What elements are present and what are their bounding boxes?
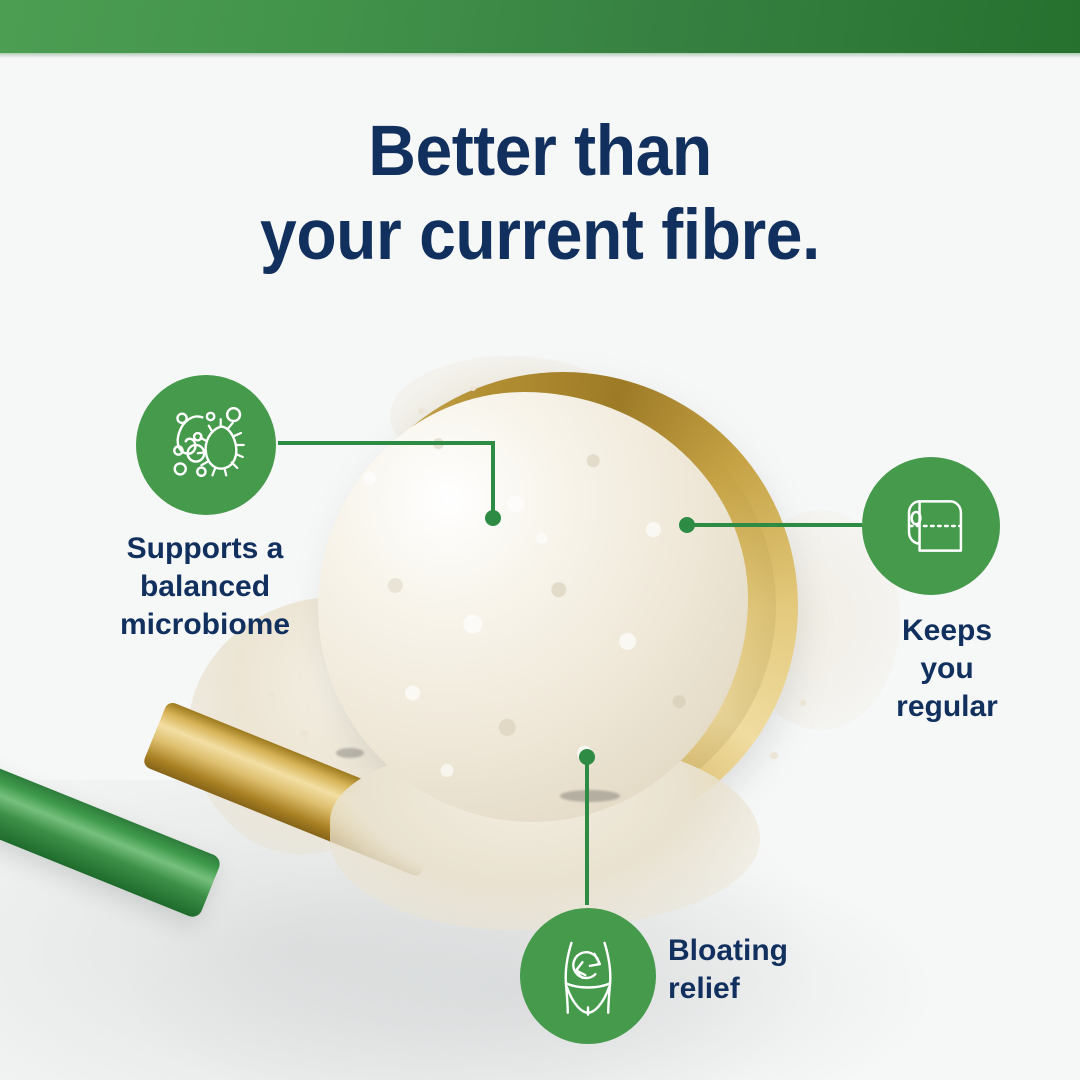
powder-speck (418, 408, 425, 414)
powder-speck (470, 386, 476, 391)
powder-speck (770, 752, 778, 759)
powder-speck (268, 692, 275, 698)
callout-badge-regular[interactable] (862, 457, 1000, 595)
callout-label-line: Keeps (902, 614, 992, 647)
toilet-paper-roll-icon (887, 482, 975, 570)
promo-graphic: Better than your current fibre. (0, 0, 1080, 1080)
belly-refresh-icon (542, 930, 634, 1022)
headline-line-2: your current fibre. (38, 194, 1042, 278)
page-title: Better than your current fibre. (38, 110, 1042, 278)
powder-speck (300, 730, 309, 737)
callout-label-line: you (920, 652, 973, 685)
callout-label-line: Supports a (127, 532, 284, 565)
powder-shadow-crumb (336, 748, 364, 758)
powder-texture (318, 392, 748, 822)
callout-label-regular: Keeps you regular (852, 612, 1042, 726)
callout-badge-microbiome[interactable] (136, 375, 276, 515)
callout-label-line: microbiome (120, 608, 290, 641)
banner-shadow (0, 53, 1080, 58)
powder-shadow-crumb (560, 790, 620, 802)
headline-line-1: Better than (38, 110, 1042, 194)
callout-label-microbiome: Supports a balanced microbiome (80, 530, 330, 644)
powder-speck (800, 700, 806, 706)
bacteria-microbiome-icon (160, 399, 252, 491)
callout-label-line: Bloating (668, 934, 788, 967)
callout-badge-bloating[interactable] (520, 908, 656, 1044)
callout-label-line: regular (896, 690, 998, 723)
callout-label-line: balanced (140, 570, 270, 603)
top-green-banner (0, 0, 1080, 53)
callout-label-line: relief (668, 972, 740, 1005)
callout-label-bloating: Bloating relief (668, 932, 918, 1008)
